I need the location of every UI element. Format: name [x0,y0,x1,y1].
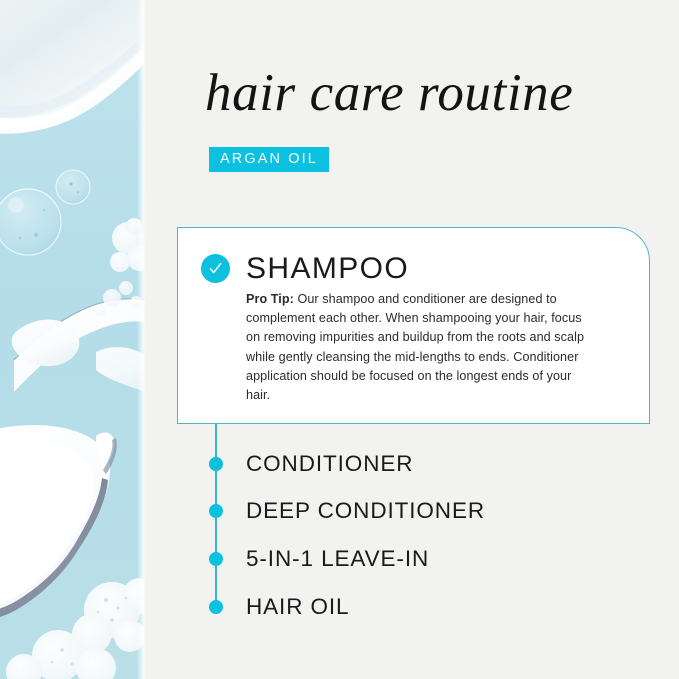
card-heading: SHAMPOO [246,252,409,286]
step-dot-icon [209,600,223,614]
step-item-5-in-1-leave-in[interactable]: 5-IN-1 LEAVE-IN [209,549,429,569]
card-body-text: Pro Tip: Our shampoo and conditioner are… [246,290,591,405]
card-body-copy: Our shampoo and conditioner are designed… [246,292,584,402]
step-dot-icon [209,552,223,566]
page-title: hair care routine [205,61,573,125]
step-item-deep-conditioner[interactable]: DEEP CONDITIONER [209,501,485,521]
step-dot-icon [209,457,223,471]
product-badge: ARGAN OIL [209,147,329,172]
step-label: DEEP CONDITIONER [246,498,485,524]
card-body-prefix: Pro Tip: [246,292,294,306]
product-texture-image [0,0,146,679]
step-label: CONDITIONER [246,451,413,477]
product-badge-label: ARGAN OIL [220,152,318,167]
step-item-conditioner[interactable]: CONDITIONER [209,454,413,474]
step-label: 5-IN-1 LEAVE-IN [246,546,429,572]
step-label: HAIR OIL [246,594,349,620]
step-dot-icon [209,504,223,518]
step-item-hair-oil[interactable]: HAIR OIL [209,597,349,617]
check-circle-icon [201,254,230,283]
hair-care-routine-page: hair care routine ARGAN OIL SHAMPOO Pro … [0,0,679,679]
